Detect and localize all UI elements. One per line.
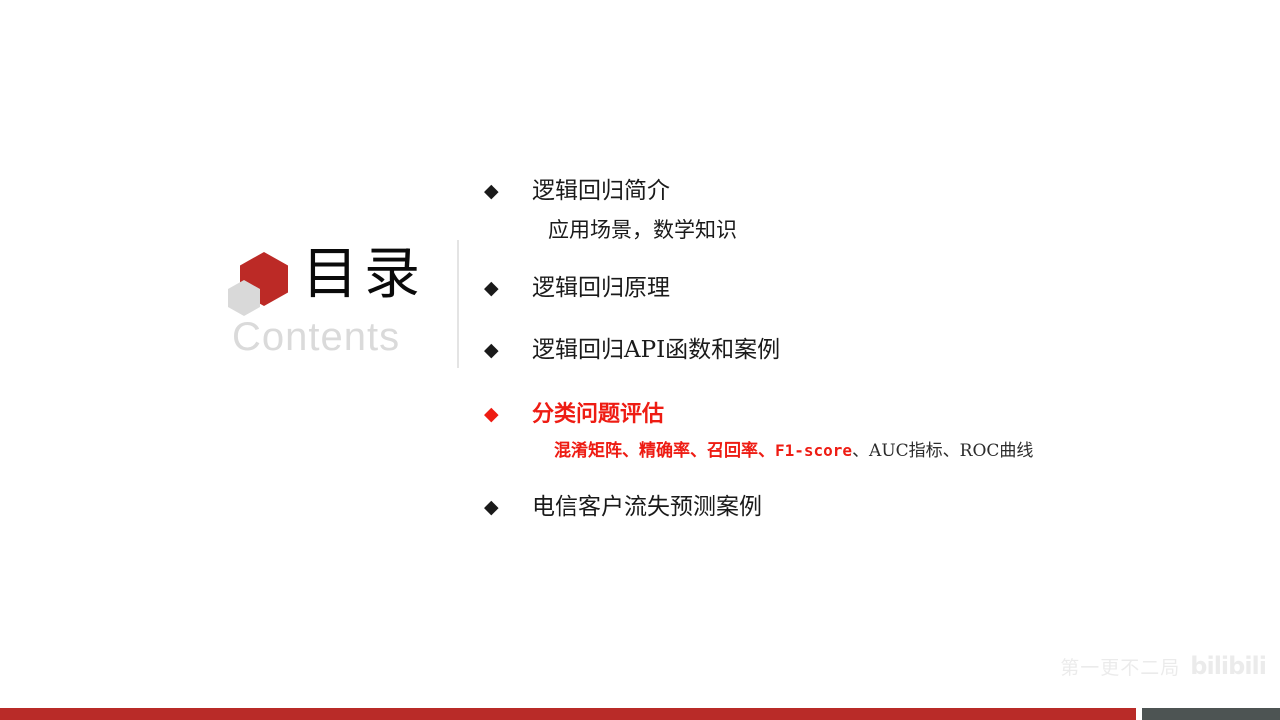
- watermark-username: 第一更不二局: [1060, 653, 1180, 680]
- page-subtitle: Contents: [232, 312, 400, 362]
- diamond-bullet-icon: ◆: [484, 335, 506, 365]
- page-title: 目录: [302, 244, 426, 306]
- table-of-contents: ◆ 逻辑回归简介 应用场景，数学知识 ◆ 逻辑回归原理 ◆ 逻辑回归API函数和…: [484, 176, 1184, 522]
- video-progress-bar[interactable]: [0, 708, 1280, 720]
- diamond-bullet-icon: ◆: [484, 492, 506, 522]
- toc-item-label: 逻辑回归API函数和案例: [506, 335, 780, 365]
- presentation-slide: 目录 Contents ◆ 逻辑回归简介 应用场景，数学知识 ◆ 逻辑回归原理 …: [0, 0, 1280, 720]
- toc-item-label: 分类问题评估: [506, 399, 664, 429]
- diamond-bullet-icon: ◆: [484, 273, 506, 303]
- toc-item-4-active[interactable]: ◆ 分类问题评估 混淆矩阵、精确率、召回率、F1-score、AUC指标、ROC…: [484, 399, 1184, 466]
- slide-title-block: 目录 Contents: [228, 244, 438, 370]
- toc-item-subtext: 应用场景，数学知识: [484, 215, 1184, 245]
- toc-item-label: 电信客户流失预测案例: [506, 492, 762, 522]
- hexagon-logo: [228, 252, 294, 314]
- subtext-dark-tail: 、AUC指标、ROC曲线: [852, 441, 1033, 461]
- progress-remaining-portion[interactable]: [1142, 708, 1280, 720]
- diamond-bullet-icon: ◆: [484, 399, 506, 429]
- toc-item-1[interactable]: ◆ 逻辑回归简介 应用场景，数学知识: [484, 176, 1184, 245]
- subtext-red-lead: 混淆矩阵、精确率、召回率、: [554, 441, 775, 461]
- diamond-bullet-icon: ◆: [484, 176, 506, 206]
- toc-item-3[interactable]: ◆ 逻辑回归API函数和案例: [484, 335, 1184, 365]
- watermark: 第一更不二局 bilibili: [1060, 652, 1266, 680]
- toc-item-2[interactable]: ◆ 逻辑回归原理: [484, 273, 1184, 303]
- toc-item-label: 逻辑回归简介: [506, 176, 670, 206]
- toc-item-subtext: 混淆矩阵、精确率、召回率、F1-score、AUC指标、ROC曲线: [484, 436, 1184, 466]
- bilibili-logo-icon: bilibili: [1190, 652, 1266, 680]
- subtext-f1-score: F1-score: [775, 441, 852, 460]
- progress-played-portion[interactable]: [0, 708, 1136, 720]
- toc-item-5[interactable]: ◆ 电信客户流失预测案例: [484, 492, 1184, 522]
- vertical-divider: [457, 240, 459, 368]
- toc-item-label: 逻辑回归原理: [506, 273, 670, 303]
